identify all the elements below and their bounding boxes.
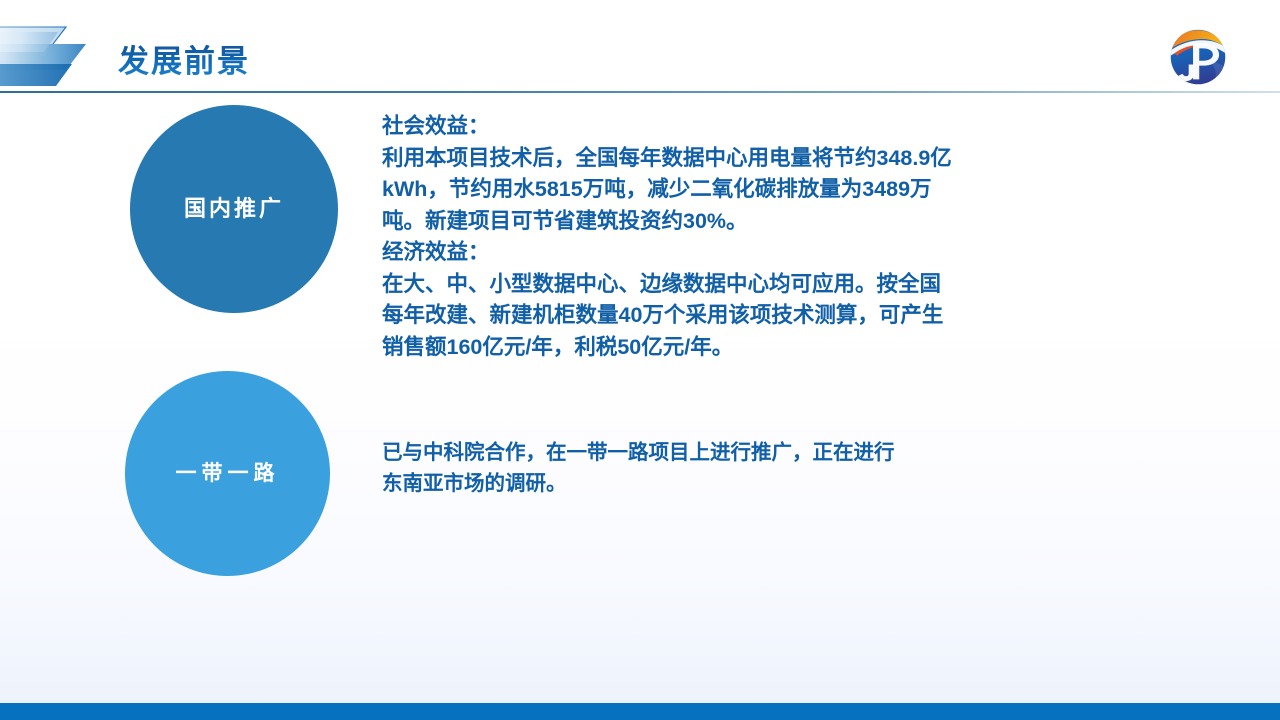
- bubble-domestic-promotion[interactable]: 国内推广: [130, 105, 338, 313]
- page-title: 发展前景: [118, 36, 250, 81]
- text-line: 吨。新建项目可节省建筑投资约30%。: [382, 206, 1062, 238]
- company-logo-icon: [1165, 26, 1231, 88]
- slide-header: 发展前景: [0, 0, 1280, 93]
- text-line: 经济效益：: [382, 237, 1062, 269]
- slide-canvas: 发展前景: [0, 0, 1280, 720]
- text-line: 东南亚市场的调研。: [382, 468, 1042, 499]
- text-line: 已与中科院合作，在一带一路项目上进行推广，正在进行: [382, 437, 1042, 468]
- text-line: 利用本项目技术后，全国每年数据中心用电量将节约348.9亿: [382, 143, 1062, 175]
- text-line: 每年改建、新建机柜数量40万个采用该项技术测算，可产生: [382, 300, 1062, 332]
- text-line: 社会效益：: [382, 111, 1062, 143]
- benefits-text-block: 社会效益： 利用本项目技术后，全国每年数据中心用电量将节约348.9亿 kWh，…: [382, 111, 1062, 363]
- slide-content: 国内推广 一带一路 社会效益： 利用本项目技术后，全国每年数据中心用电量将节约3…: [0, 93, 1280, 703]
- text-line: 在大、中、小型数据中心、边缘数据中心均可应用。按全国: [382, 269, 1062, 301]
- text-line: kWh，节约用水5815万吨，减少二氧化碳排放量为3489万: [382, 174, 1062, 206]
- belt-and-road-text-block: 已与中科院合作，在一带一路项目上进行推广，正在进行 东南亚市场的调研。: [382, 437, 1042, 499]
- bubble-belt-and-road[interactable]: 一带一路: [125, 371, 330, 576]
- text-line: 销售额160亿元/年，利税50亿元/年。: [382, 332, 1062, 364]
- footer-bar: [0, 703, 1280, 720]
